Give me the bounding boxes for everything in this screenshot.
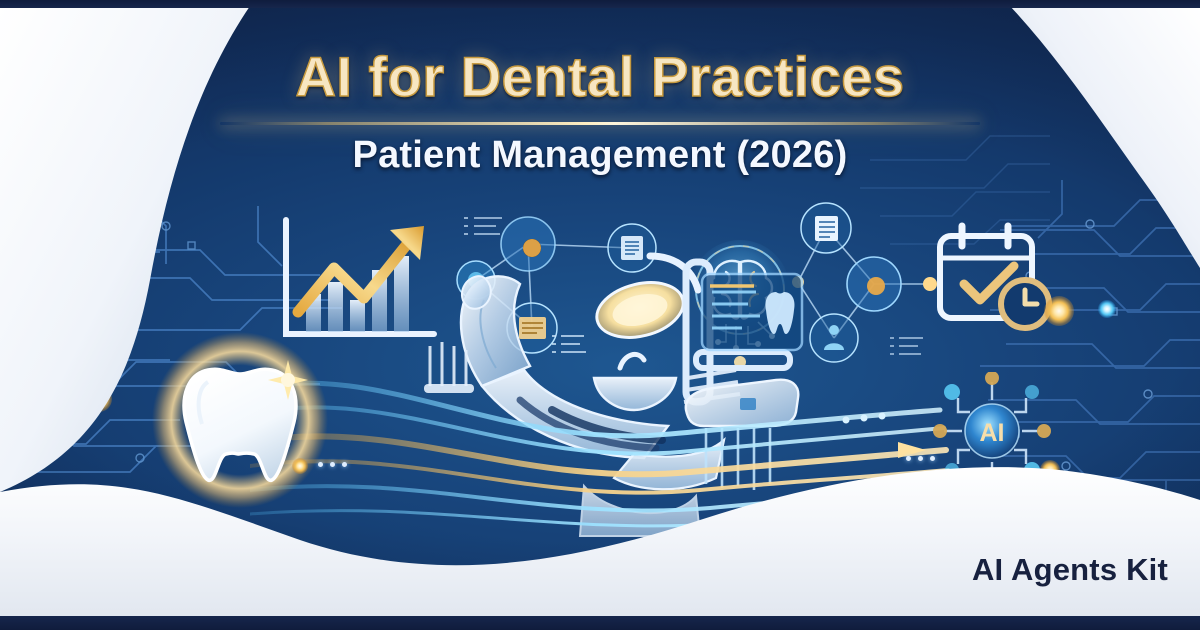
wave-top-left: [0, 6, 250, 492]
top-edge-bar: [0, 0, 1200, 8]
wave-shapes: [0, 0, 1200, 630]
banner-canvas: AI: [0, 0, 1200, 630]
wave-bottom: [0, 467, 1200, 630]
brand-label: AI Agents Kit: [972, 552, 1168, 588]
bottom-edge-bar: [0, 616, 1200, 630]
wave-top-right: [1010, 6, 1200, 268]
